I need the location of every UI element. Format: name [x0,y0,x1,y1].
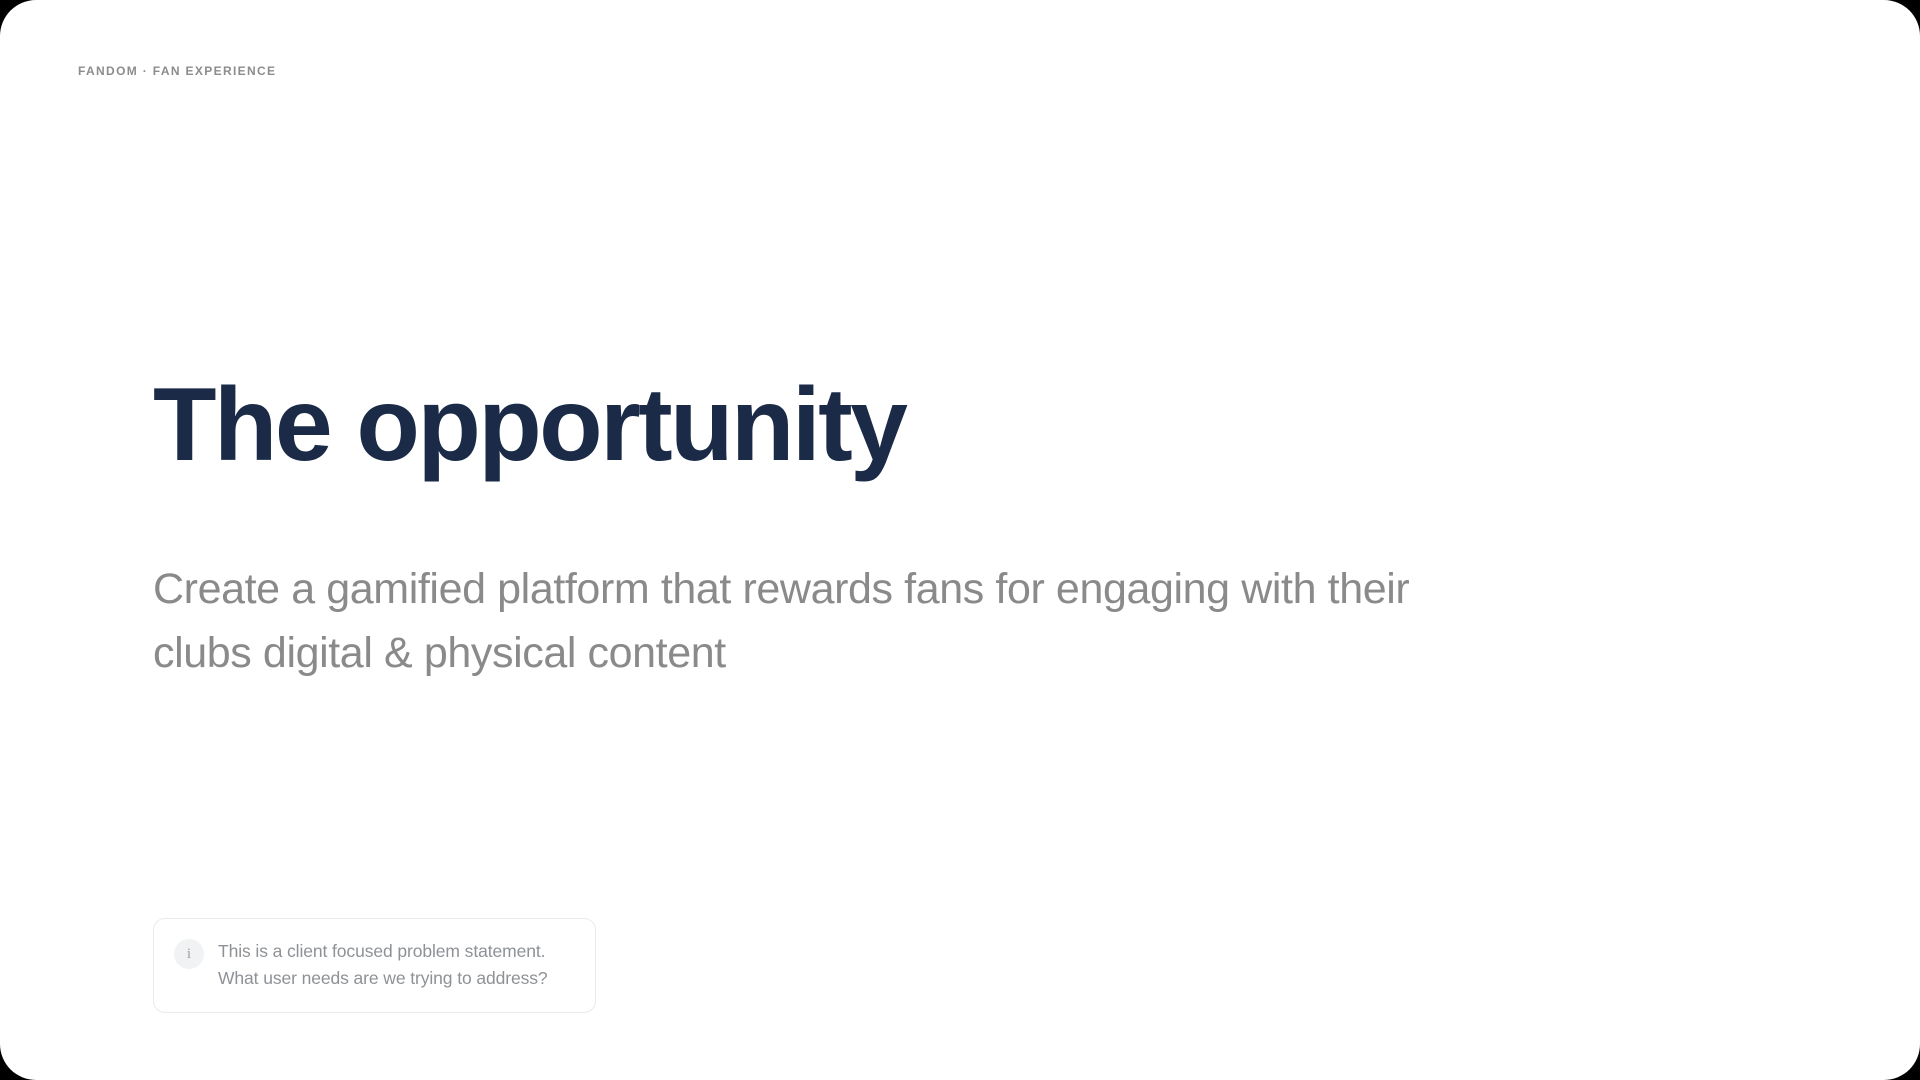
slide-headline: The opportunity [153,370,1653,480]
slide-body-block: The opportunity Create a gamified platfo… [153,370,1653,685]
info-note-text: This is a client focused problem stateme… [218,938,573,992]
slide-eyebrow-label: FANDOM · FAN EXPERIENCE [78,64,276,78]
slide-subheadline: Create a gamified platform that rewards … [153,558,1473,685]
info-note-card: i This is a client focused problem state… [153,918,596,1013]
presentation-slide: FANDOM · FAN EXPERIENCE The opportunity … [0,0,1920,1080]
info-icon: i [174,939,204,969]
